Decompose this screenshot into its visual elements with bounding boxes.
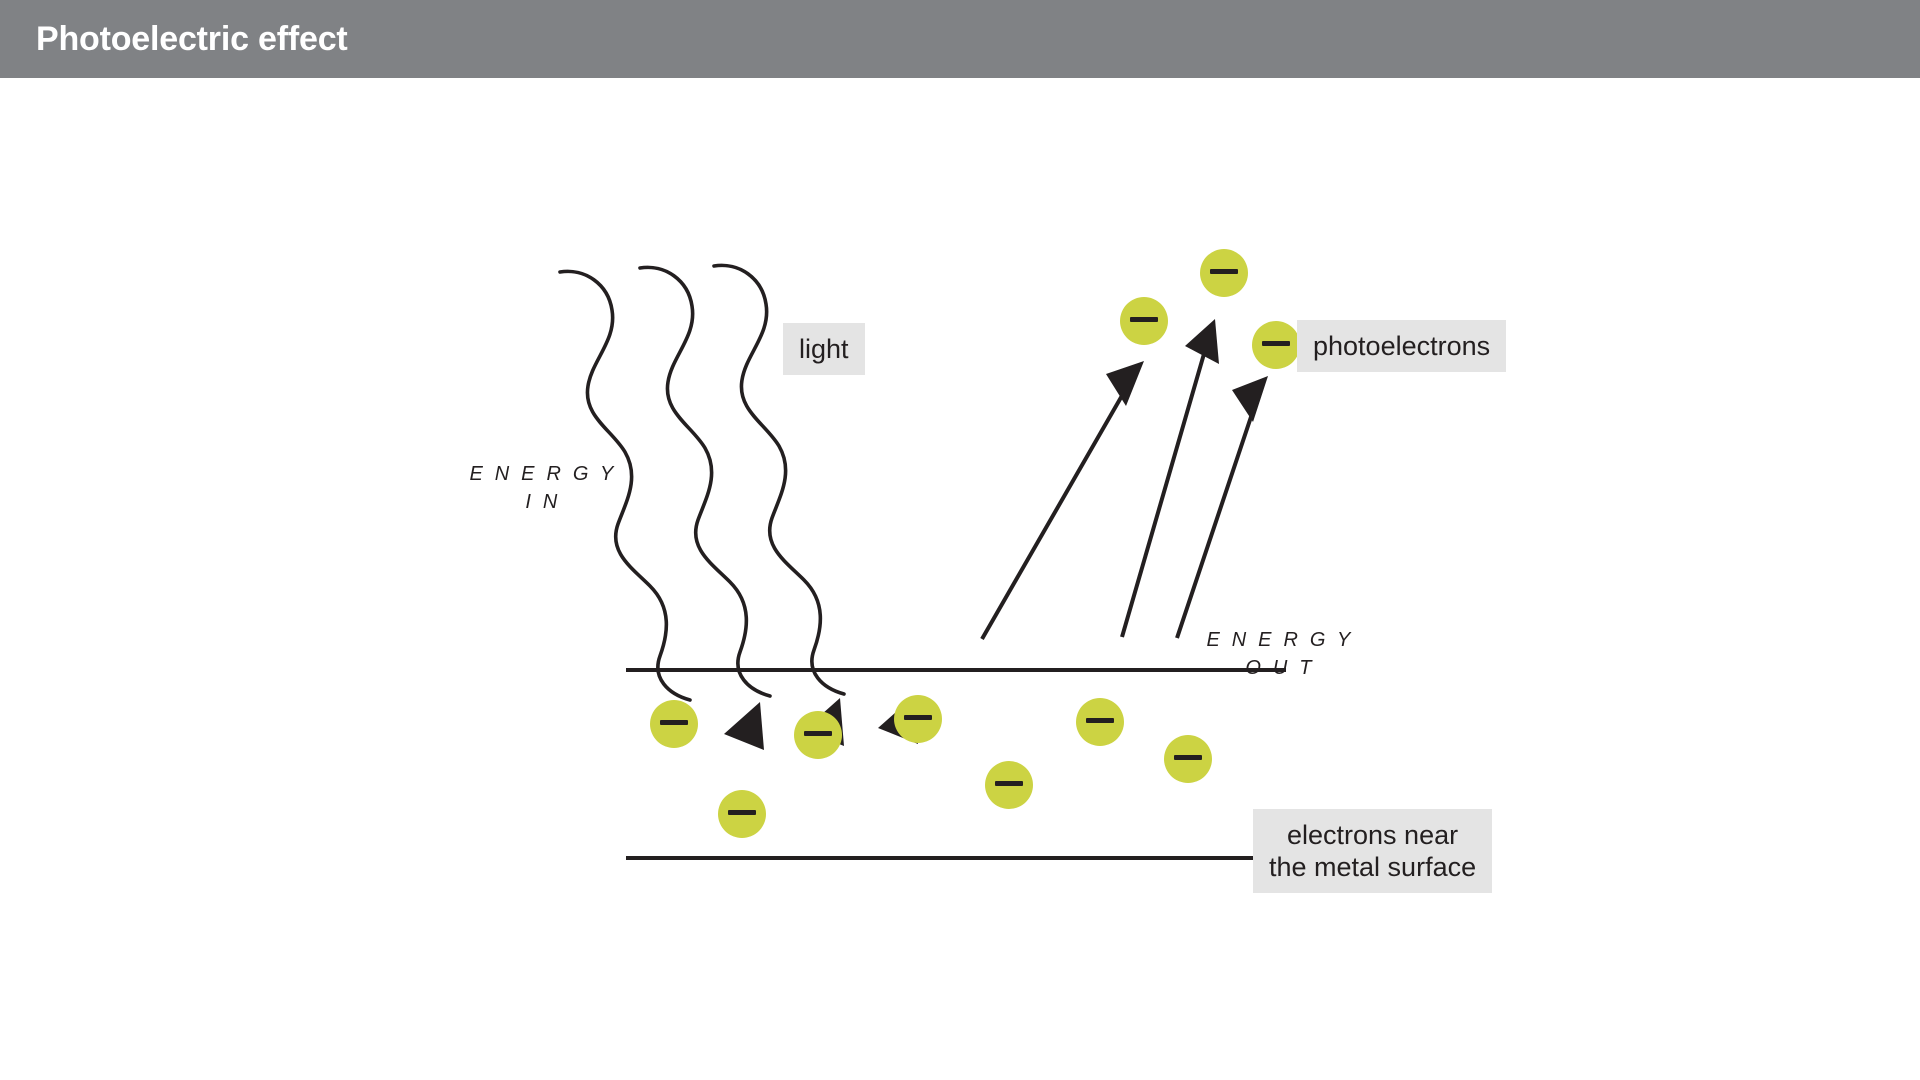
emission-arrow-shaft	[1177, 396, 1258, 638]
electron-minus-icon	[718, 790, 766, 838]
emission-arrow-shaft	[1122, 340, 1208, 637]
electron-minus-icon	[650, 700, 698, 748]
emission-arrow-icon	[1232, 376, 1268, 422]
light-wave-arrowhead-icon	[724, 702, 764, 750]
app-header-bar: Photoelectric effect	[0, 0, 1920, 78]
photoelectric-effect-diagram: E N E R G Y I N E N E R G Y O U T light …	[0, 78, 1920, 1080]
electron-minus-icon	[1164, 735, 1212, 783]
electron-minus-icon	[794, 711, 842, 759]
surface-electron-group	[650, 695, 1212, 838]
electron-minus-icon	[894, 695, 942, 743]
diagram-vector-layer	[0, 78, 1920, 1080]
emission-arrow-shaft	[982, 380, 1131, 639]
energy-in-label: E N E R G Y I N	[468, 460, 618, 516]
callout-light: light	[783, 323, 865, 375]
electron-minus-icon	[1252, 321, 1300, 369]
callout-photoelectrons: photoelectrons	[1297, 320, 1506, 372]
electron-minus-icon	[1120, 297, 1168, 345]
electron-minus-icon	[1076, 698, 1124, 746]
energy-out-label: E N E R G Y O U T	[1205, 626, 1355, 682]
callout-electrons-near-metal-surface: electrons near the metal surface	[1253, 809, 1492, 893]
electron-minus-icon	[985, 761, 1033, 809]
electron-minus-icon	[1200, 249, 1248, 297]
page-title: Photoelectric effect	[36, 22, 348, 56]
emission-arrow-icon	[1106, 361, 1144, 406]
light-wave-icon	[640, 267, 770, 696]
